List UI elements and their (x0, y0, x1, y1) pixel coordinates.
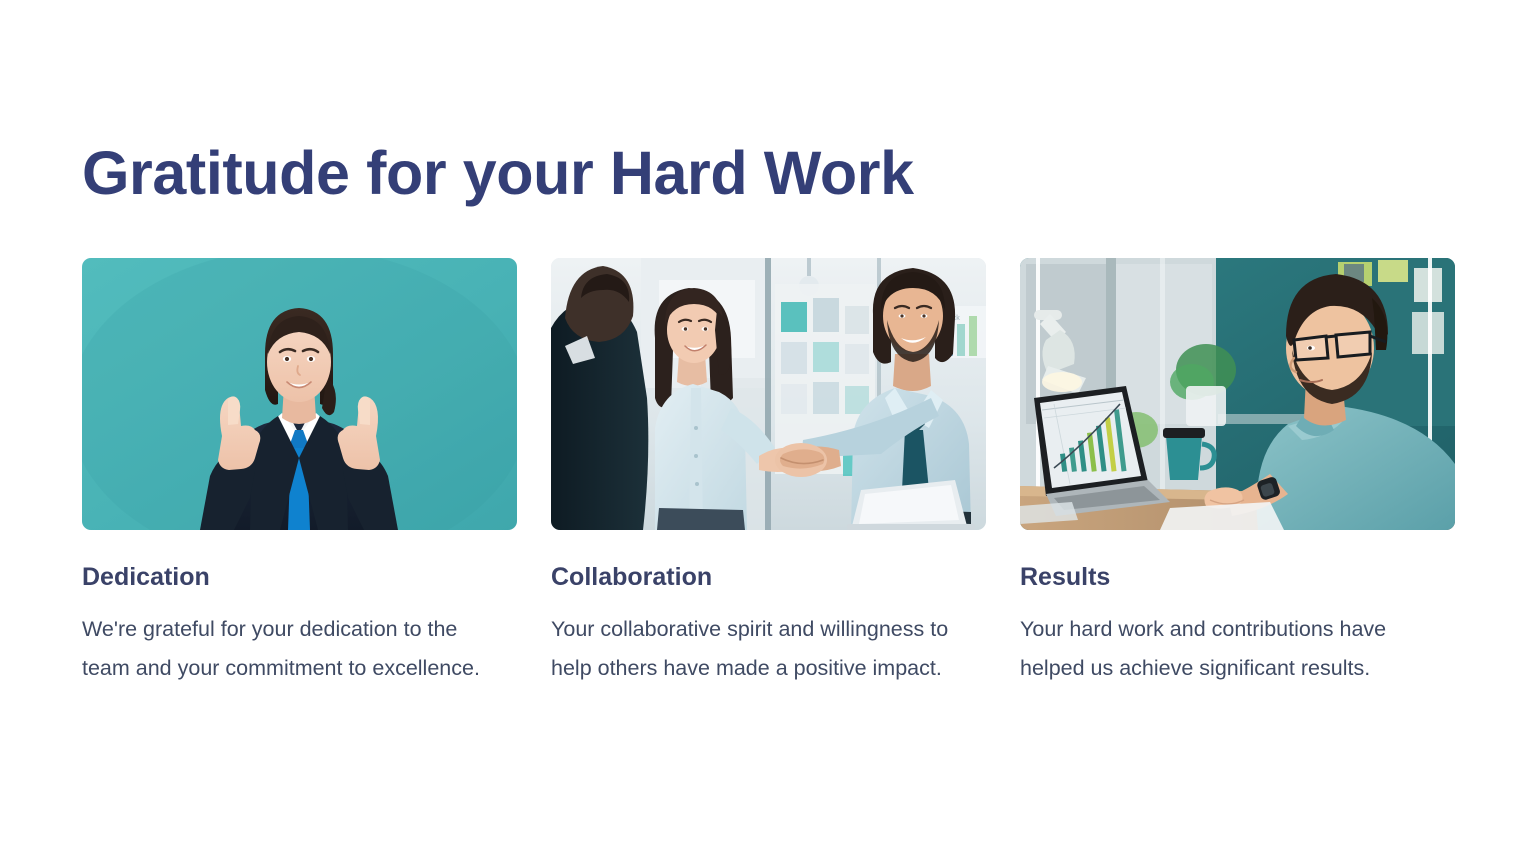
card-grid: Dedication We're grateful for your dedic… (82, 258, 1454, 688)
card-title-results: Results (1020, 562, 1455, 592)
card-title-collaboration: Collaboration (551, 562, 986, 592)
card-dedication: Dedication We're grateful for your dedic… (82, 258, 517, 688)
card-image-results (1020, 258, 1455, 530)
slide-root: Gratitude for your Hard Work (0, 0, 1536, 864)
card-results: Results Your hard work and contributions… (1020, 258, 1455, 688)
card-image-collaboration: Mock (551, 258, 986, 530)
page-title: Gratitude for your Hard Work (82, 138, 914, 208)
card-collaboration: Mock (551, 258, 986, 688)
photo-office-handshake-icon: Mock (551, 258, 986, 530)
photo-businesswoman-two-thumbs-up-icon (82, 258, 517, 530)
card-body-dedication: We're grateful for your dedication to th… (82, 610, 502, 688)
card-body-collaboration: Your collaborative spirit and willingnes… (551, 610, 986, 688)
photo-man-laptop-analytics-icon (1020, 258, 1455, 530)
card-image-dedication (82, 258, 517, 530)
card-title-dedication: Dedication (82, 562, 517, 592)
card-body-results: Your hard work and contributions have he… (1020, 610, 1455, 688)
